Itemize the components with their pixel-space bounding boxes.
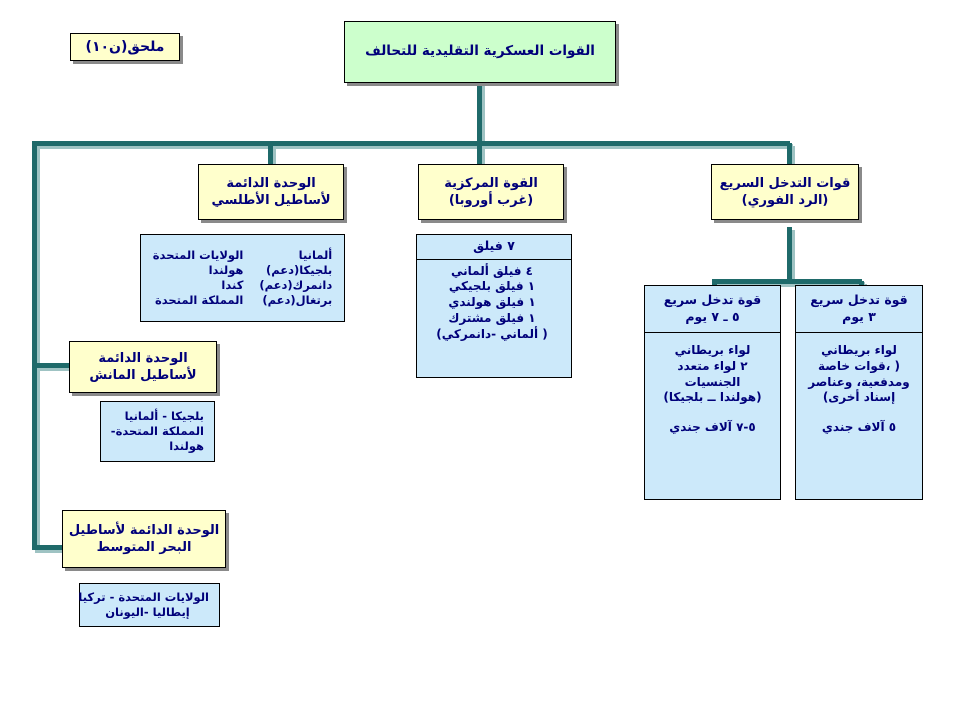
table-row: ١ فيلق هولندي [427, 295, 557, 311]
rapid-unit-1-header: قوة تدخل سريع ٥ ـ ٧ يوم [645, 286, 780, 333]
list-item: لواء بريطاني [802, 343, 916, 359]
list-item: هولندا [107, 439, 204, 454]
list-item: الجنسيات [651, 375, 774, 391]
channel-members-list: بلجيكا - ألمانيا المملكة المتحدة- هولندا [101, 406, 214, 457]
list-item: ٢ لواء متعدد [651, 359, 774, 375]
branch-channel-title-line2: لأساطيل المانش [89, 367, 196, 384]
branch-mediterranean-title-line1: الوحدة الدائمة لأساطيل [69, 522, 219, 539]
connector-branch-channel [32, 363, 70, 368]
rapid-unit-2: قوة تدخل سريع ٣ يوم لواء بريطاني ( ،قوات… [795, 285, 923, 500]
branch-mediterranean-title: الوحدة الدائمة لأساطيل البحر المتوسط [62, 510, 226, 568]
rapid-unit-1-header-line1: قوة تدخل سريع [649, 292, 776, 309]
list-item: المملكة المتحدة- [107, 424, 204, 439]
connector-root-stem [477, 84, 482, 142]
rapid-unit-2-body: لواء بريطاني ( ،قوات خاصة ومدفعية، وعناص… [796, 333, 922, 442]
list-item: الولايات المتحدة - تركيا [86, 590, 209, 605]
corps-table-header: ٧ فيلق [417, 235, 571, 260]
atlantic-members-column-left: ألمانيا بلجيكا(دعم) دانمرك(دعم) برتغال(د… [259, 248, 332, 308]
branch-central-title-line2: (غرب أوروبا) [449, 192, 533, 209]
list-item: (هولندا ــ بلجيكا) [651, 390, 774, 406]
list-item: ومدفعية، وعناصر [802, 375, 916, 391]
table-row: ٤ فيلق ألماني [427, 264, 557, 280]
branch-rapid-title-line2: (الرد الفوري) [742, 192, 829, 209]
branch-atlantic-title: الوحدة الدائمة لأساطيل الأطلسي [198, 164, 344, 220]
atlantic-members-column-right: الولايات المتحدة هولندا كندا المملكة الم… [153, 248, 244, 308]
table-row: ١ فيلق بلجيكي [427, 279, 557, 295]
connector-left-spine [32, 141, 37, 545]
rapid-unit-1-header-line2: ٥ ـ ٧ يوم [649, 309, 776, 326]
list-item: بلجيكا - ألمانيا [107, 409, 204, 424]
table-row: ١ فيلق مشترك [427, 311, 557, 327]
connector-drop-rapid [787, 143, 792, 165]
connector-drop-atlantic [268, 143, 273, 165]
list-item: هولندا [153, 263, 244, 278]
rapid-unit-2-strength: ٥ آلاف جندي [802, 420, 916, 436]
list-item: المملكة المتحدة [153, 293, 244, 308]
list-item: لواء بريطاني [651, 343, 774, 359]
list-item: دانمرك(دعم) [259, 278, 332, 293]
branch-mediterranean-members: الولايات المتحدة - تركيا إيطاليا -اليونا… [79, 583, 220, 627]
list-item: ( ،قوات خاصة [802, 359, 916, 375]
list-item: إسناد أخرى) [802, 390, 916, 406]
org-chart-canvas: ملحق(ن١٠) القوات العسكرية التقليدية للتح… [0, 0, 959, 719]
page-title: القوات العسكرية التقليدية للتحالف [365, 43, 595, 61]
connector-main-bus [32, 141, 790, 146]
rapid-unit-2-header: قوة تدخل سريع ٣ يوم [796, 286, 922, 333]
list-item: الولايات المتحدة [153, 248, 244, 263]
list-item: إيطاليا -اليونان [86, 605, 209, 620]
branch-central-corps-table: ٧ فيلق ٤ فيلق ألماني ١ فيلق بلجيكي ١ فيل… [416, 234, 572, 378]
connector-drop-central [477, 143, 482, 165]
appendix-annotation: ملحق(ن١٠) [70, 33, 180, 61]
list-item: كندا [153, 278, 244, 293]
rapid-unit-1: قوة تدخل سريع ٥ ـ ٧ يوم لواء بريطاني ٢ ل… [644, 285, 781, 500]
branch-atlantic-title-line2: لأساطيل الأطلسي [211, 192, 330, 209]
branch-rapid-title-line1: قوات التدخل السريع [720, 175, 851, 192]
branch-mediterranean-title-line2: البحر المتوسط [97, 539, 192, 556]
connector-rapid-stem [787, 227, 792, 279]
rapid-unit-1-strength: ٥-٧ آلاف جندي [651, 420, 774, 436]
rapid-unit-1-body: لواء بريطاني ٢ لواء متعدد الجنسيات (هولن… [645, 333, 780, 442]
branch-channel-members: بلجيكا - ألمانيا المملكة المتحدة- هولندا [100, 401, 215, 462]
rapid-unit-2-header-line1: قوة تدخل سريع [800, 292, 918, 309]
branch-channel-title: الوحدة الدائمة لأساطيل المانش [69, 341, 217, 393]
branch-atlantic-members: ألمانيا بلجيكا(دعم) دانمرك(دعم) برتغال(د… [140, 234, 345, 322]
list-item: ألمانيا [259, 248, 332, 263]
branch-channel-title-line1: الوحدة الدائمة [98, 350, 187, 367]
branch-rapid-title: قوات التدخل السريع (الرد الفوري) [711, 164, 859, 220]
branch-central-title: القوة المركزية (غرب أوروبا) [418, 164, 564, 220]
rapid-unit-2-header-line2: ٣ يوم [800, 309, 918, 326]
branch-atlantic-title-line1: الوحدة الدائمة [226, 175, 315, 192]
mediterranean-members-list: الولايات المتحدة - تركيا إيطاليا -اليونا… [80, 587, 219, 623]
corps-table-body: ٤ فيلق ألماني ١ فيلق بلجيكي ١ فيلق هولند… [417, 260, 571, 348]
connector-rapid-bus [712, 279, 862, 284]
table-row: ( ألماني -دانمركي) [427, 327, 557, 343]
list-item: برتغال(دعم) [259, 293, 332, 308]
branch-central-title-line1: القوة المركزية [444, 175, 538, 192]
list-item: بلجيكا(دعم) [259, 263, 332, 278]
appendix-label: ملحق(ن١٠) [86, 38, 165, 56]
root-title-box: القوات العسكرية التقليدية للتحالف [344, 21, 616, 83]
